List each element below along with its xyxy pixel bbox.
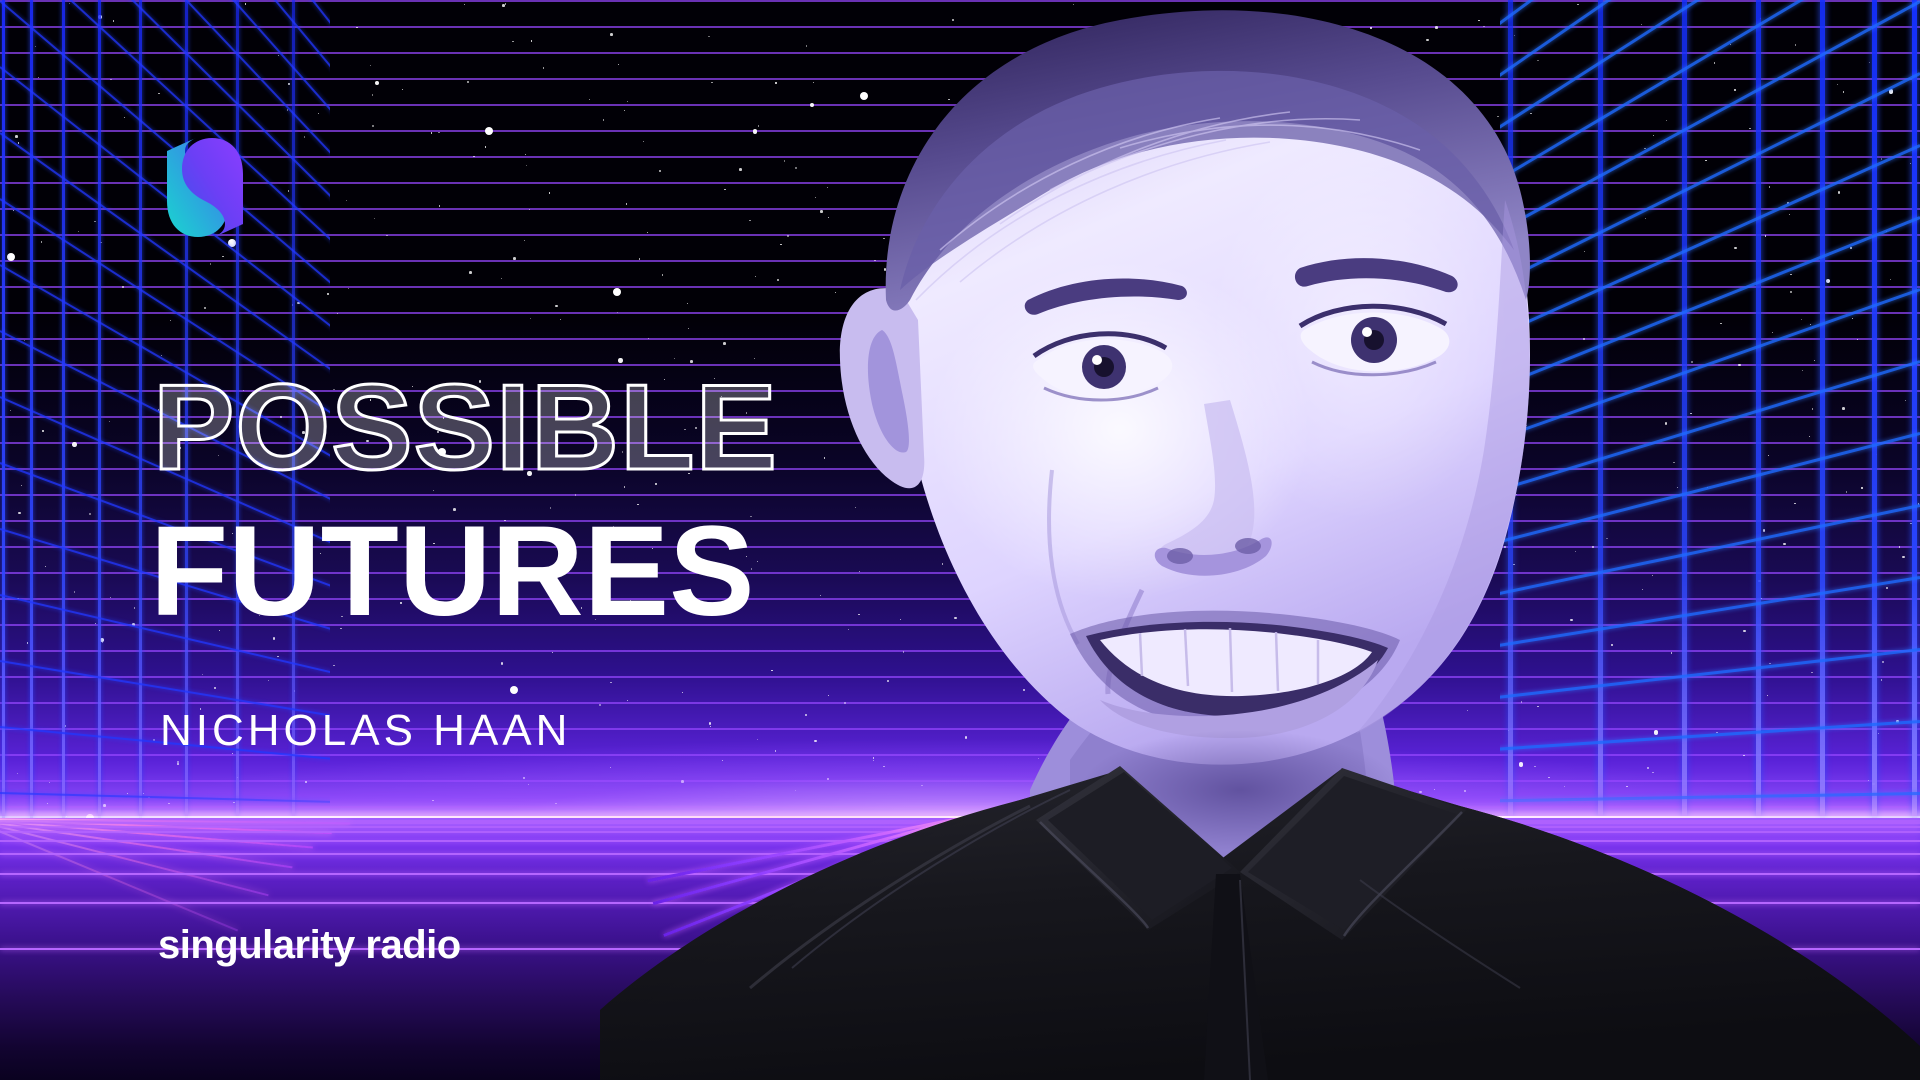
episode-title-line-1: POSSIBLE	[153, 366, 778, 488]
brand-wordmark: singularity radio	[158, 925, 461, 965]
portrait-nicholas-haan	[600, 0, 1920, 1080]
singularity-s-shield-logo	[160, 135, 250, 240]
guest-name: NICHOLAS HAAN	[160, 709, 571, 753]
episode-title-line-2: FUTURES	[150, 508, 754, 636]
cover-art-canvas: POSSIBLE FUTURES NICHOLAS HAAN singulari…	[0, 0, 1920, 1080]
